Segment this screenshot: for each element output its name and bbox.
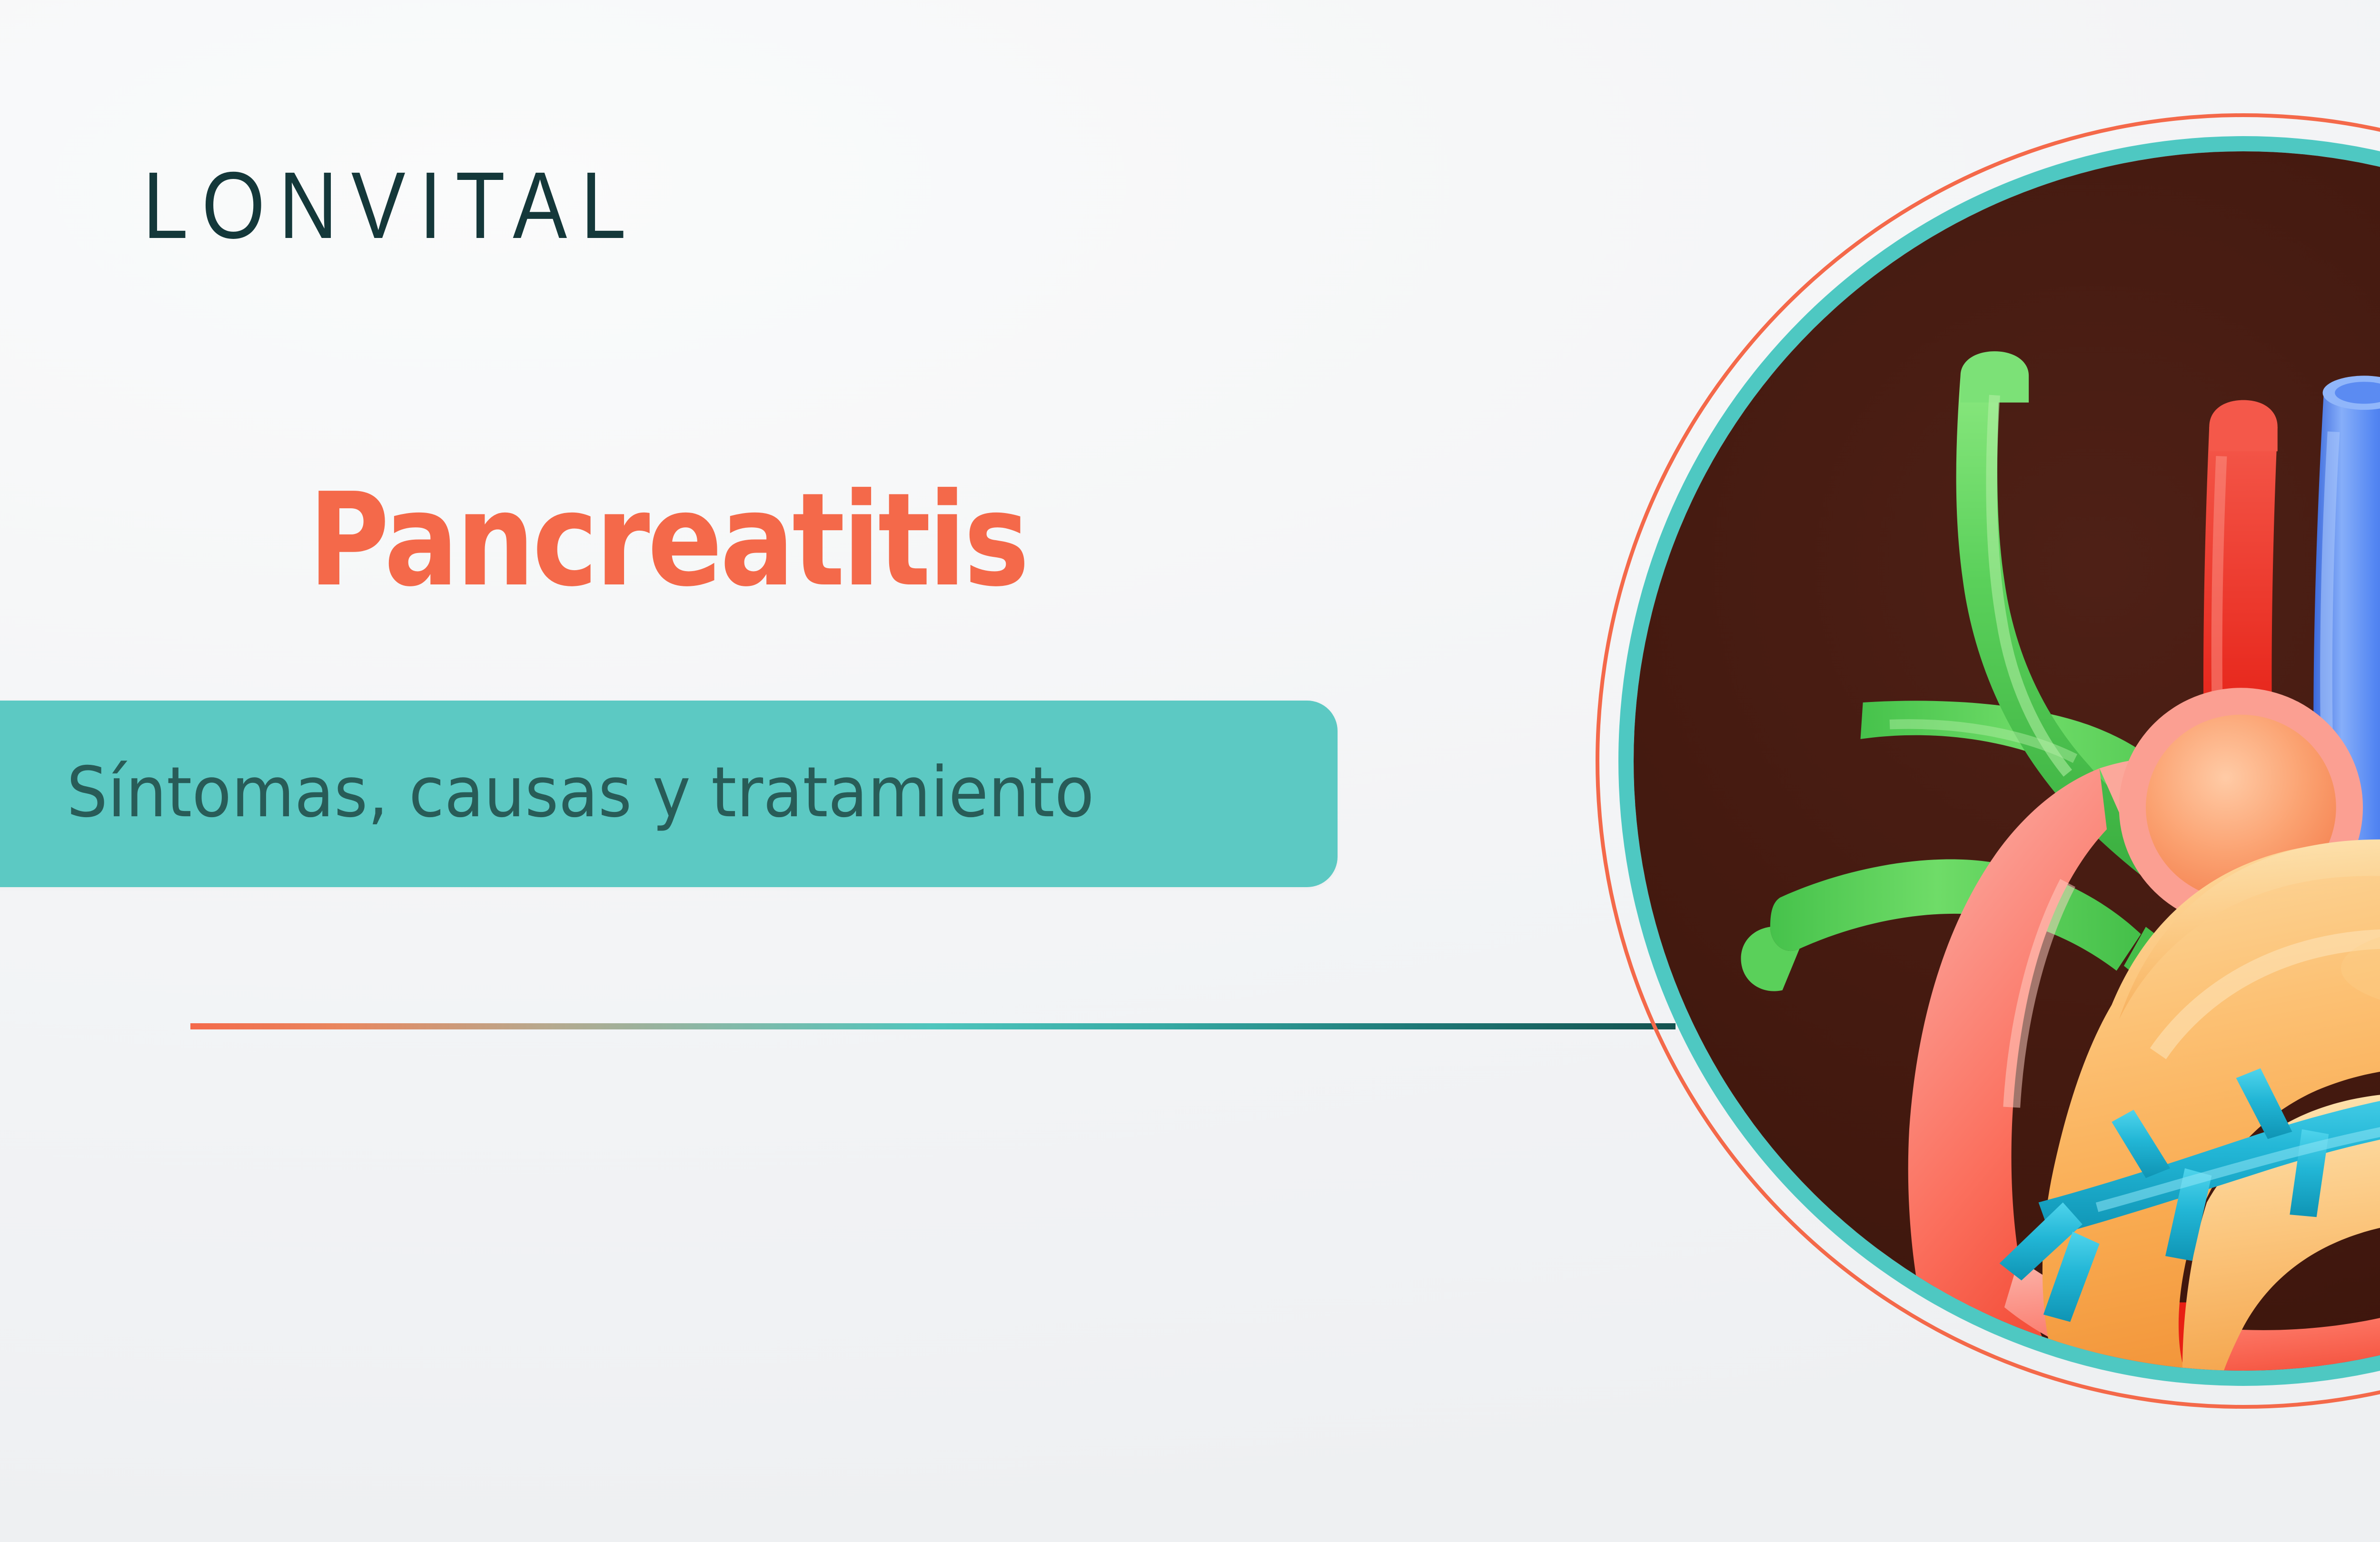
- accent-divider: [190, 1023, 1676, 1029]
- illustration-disc: [1634, 151, 2380, 1371]
- poster-canvas: LONVITAL Pancreatitis Síntomas, causas y…: [0, 0, 2380, 1542]
- brand-logo: LONVITAL: [143, 158, 640, 253]
- subtitle-text: Síntomas, causas y tratamiento: [67, 758, 1094, 827]
- pancreas-anatomy-svg: [1634, 151, 2380, 1371]
- page-title: Pancreatitis: [308, 476, 1027, 604]
- illustration-circle: [1596, 113, 2380, 1409]
- subtitle-banner: Síntomas, causas y tratamiento: [0, 701, 1338, 887]
